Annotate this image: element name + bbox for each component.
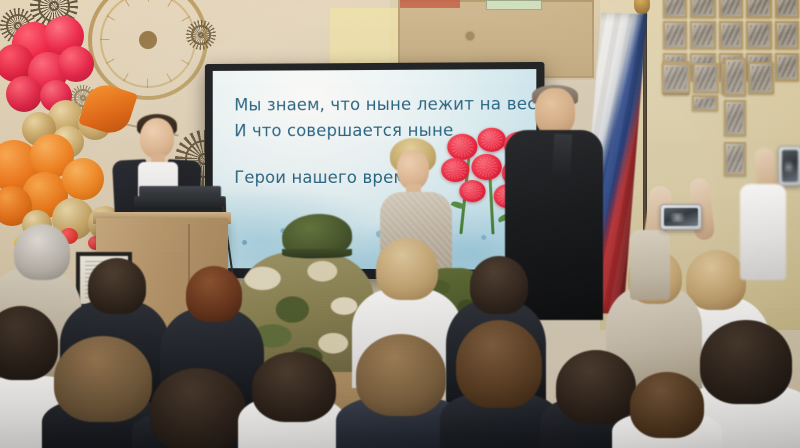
sleeve	[630, 230, 670, 300]
flag-finial-icon	[634, 0, 650, 14]
framed-photo	[692, 95, 718, 111]
wall-sign-plate	[486, 0, 542, 10]
framed-photo	[693, 63, 719, 93]
framed-photo	[719, 0, 743, 18]
audience-head	[686, 250, 746, 310]
beret-band	[282, 249, 352, 258]
slide-line-3: Герои нашего време	[234, 165, 526, 191]
gear-icon	[186, 20, 216, 50]
audience-head	[186, 266, 242, 322]
framed-photo	[719, 21, 743, 49]
framed-photo	[663, 0, 687, 18]
audience-head	[700, 320, 792, 404]
audience-head	[470, 256, 528, 314]
framed-photo	[775, 53, 799, 81]
phone-camera[interactable]	[660, 204, 702, 230]
slide-line-1: Мы знаем, что ныне лежит на веса	[234, 91, 526, 118]
framed-photo	[746, 0, 772, 18]
framed-photo	[663, 21, 687, 49]
slide-text-block: Мы знаем, что ныне лежит на веса И что с…	[234, 91, 526, 191]
framed-photo	[748, 62, 774, 94]
wall-sign-red	[400, 0, 460, 8]
audience-head	[356, 334, 446, 416]
framed-photo	[724, 142, 746, 176]
door-knob-icon	[466, 32, 474, 40]
sleeve	[740, 184, 786, 280]
audience-head	[252, 352, 336, 422]
audience-head	[376, 238, 438, 300]
framed-photo	[690, 21, 716, 49]
phone-camera[interactable]	[778, 146, 800, 186]
framed-photo	[746, 21, 772, 49]
slide-line-2: И что совершается ныне	[234, 117, 526, 143]
balloon	[62, 158, 104, 200]
audience-head	[456, 320, 542, 408]
framed-photo	[724, 58, 746, 96]
speaker-head	[140, 118, 174, 158]
framed-photo	[775, 21, 799, 49]
balloon	[6, 76, 42, 112]
framed-photo	[724, 100, 746, 136]
suitman-head	[535, 88, 575, 136]
audience-head	[556, 350, 636, 424]
framed-photo	[690, 0, 716, 18]
audience-head	[630, 372, 704, 438]
audience-head	[150, 368, 246, 448]
audience-head	[54, 336, 152, 422]
audience-head	[14, 224, 70, 280]
presentation-screen[interactable]: Мы знаем, что ныне лежит на веса И что с…	[205, 62, 545, 280]
balloon	[58, 46, 94, 82]
photograph-scene: Мы знаем, что ныне лежит на веса И что с…	[0, 0, 800, 448]
phone-screen	[782, 150, 798, 182]
audience-head	[88, 258, 146, 314]
framed-photo	[662, 63, 690, 93]
screen-display: Мы знаем, что ныне лежит на веса И что с…	[213, 69, 537, 270]
suitman-lapel	[552, 134, 572, 181]
framed-photo	[775, 0, 799, 18]
phone-screen	[664, 208, 698, 226]
man-in-dark-suit	[519, 88, 609, 328]
